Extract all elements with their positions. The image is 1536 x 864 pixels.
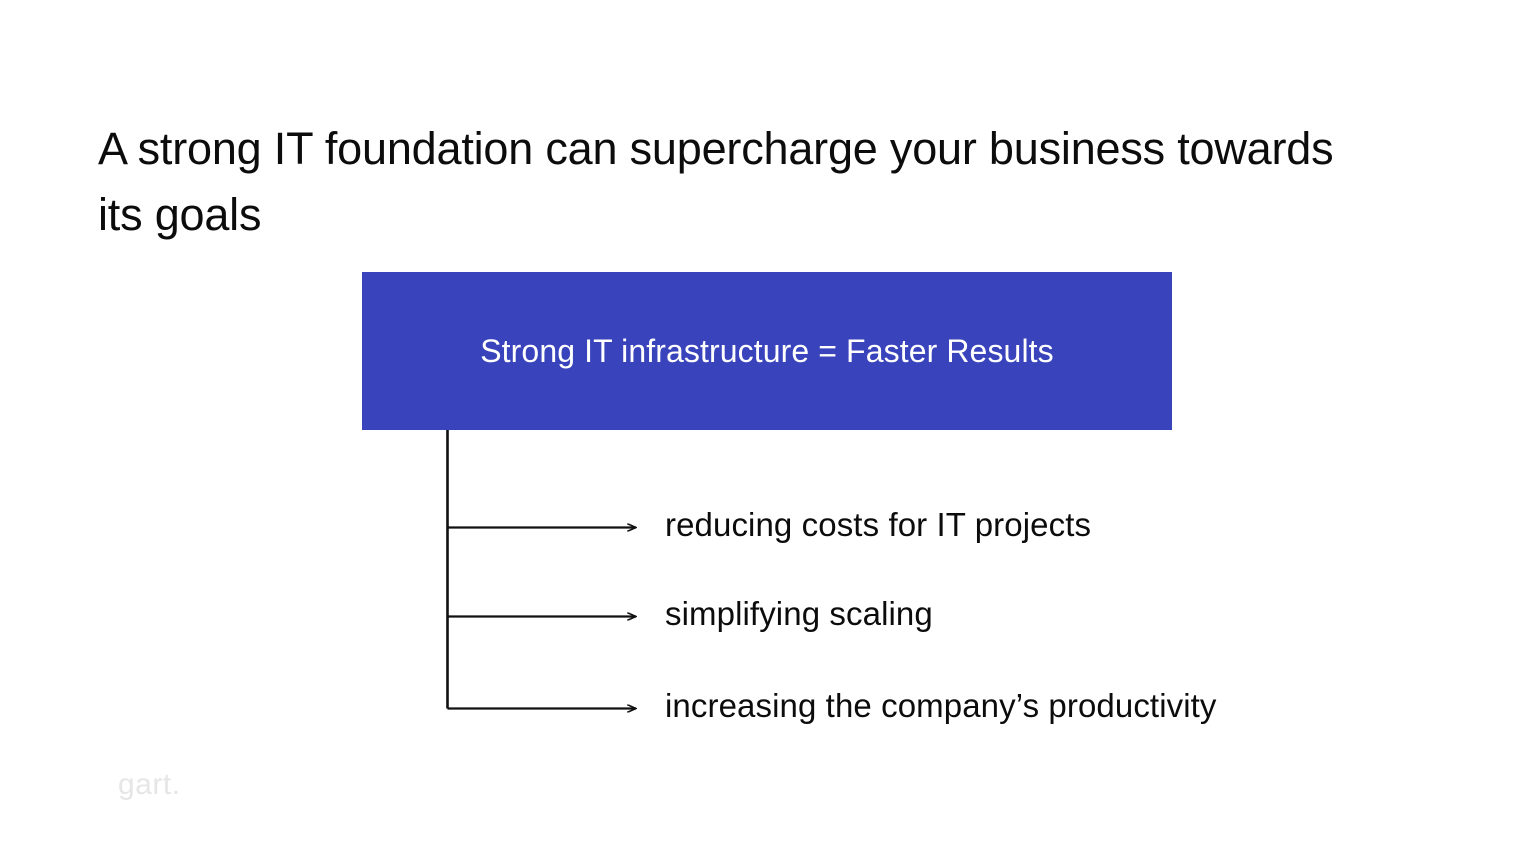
hero-statement-box: Strong IT infrastructure = Faster Result… [362,272,1172,430]
hero-statement-label: Strong IT infrastructure = Faster Result… [468,331,1066,371]
page-title: A strong IT foundation can supercharge y… [98,116,1358,248]
branch-label-3: increasing the company’s productivity [665,685,1217,727]
branch-label-1: reducing costs for IT projects [665,504,1091,546]
brand-logo: gart. [118,767,181,803]
slide-canvas: A strong IT foundation can supercharge y… [0,0,1536,864]
branch-label-2: simplifying scaling [665,593,933,635]
